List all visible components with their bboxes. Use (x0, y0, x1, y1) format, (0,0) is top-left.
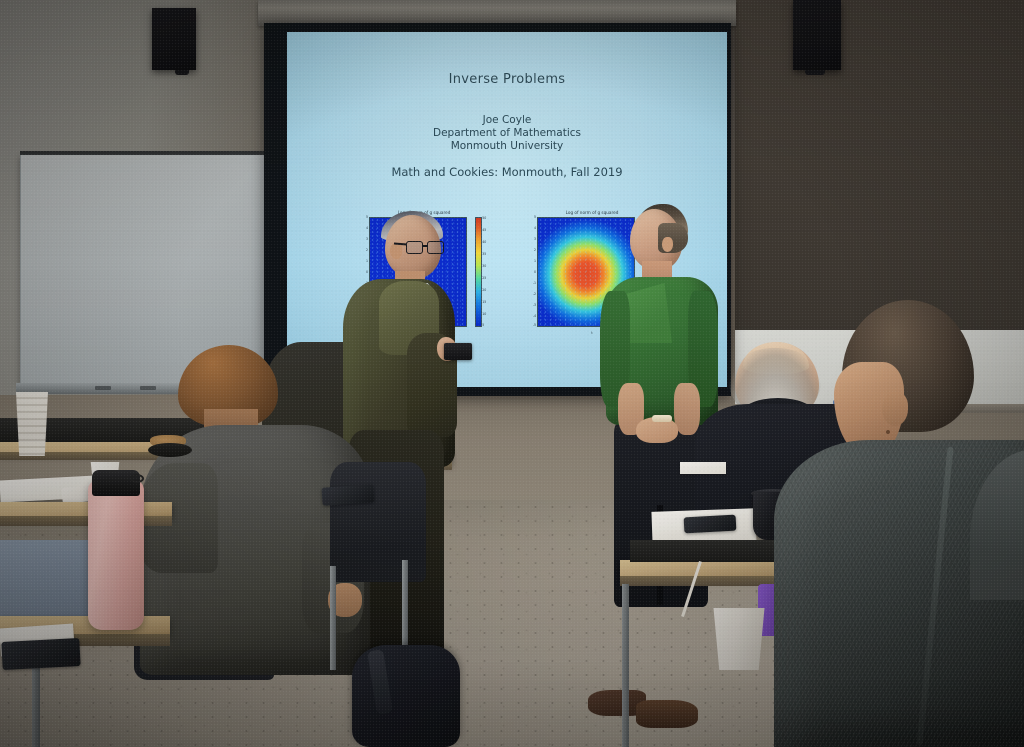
slide-author-institution: Monmouth University (287, 140, 727, 153)
slide-author-dept: Department of Mathematics (287, 127, 727, 140)
colorbar-tick: 5 (482, 324, 484, 327)
presenter-listening-ear (662, 237, 673, 252)
lecture-room-photo: Inverse Problems Joe Coyle Department of… (0, 0, 1024, 747)
chair-leg (330, 566, 336, 670)
phone[interactable] (321, 484, 374, 506)
speaker-icon (152, 8, 196, 70)
desk-edge (0, 516, 172, 526)
colorbar-tick: 35 (482, 253, 486, 256)
colorbar-tick: 15 (482, 301, 486, 304)
ytick: 3 (534, 238, 536, 241)
eyeglasses-lens (406, 241, 423, 254)
eyeglasses-icon (406, 241, 444, 254)
colorbar-tick: 10 (482, 313, 486, 316)
cookie-plate (148, 443, 192, 457)
desk-leg (622, 584, 629, 747)
colorbar-tick: 50 (482, 217, 486, 220)
colorbar-tick: 40 (482, 241, 486, 244)
eyeglasses-bridge (423, 245, 427, 247)
foreground-cup[interactable] (710, 608, 768, 670)
audience-foreground-mole (886, 430, 890, 434)
presenter-listening-shoe (636, 700, 698, 728)
audience-foreground-ear (882, 392, 908, 426)
presenter-speaking-ear (390, 243, 402, 259)
phone[interactable] (684, 515, 737, 534)
student-jeans (0, 540, 96, 628)
colorbar-tick: 30 (482, 265, 486, 268)
ytick: -5 (533, 324, 536, 327)
slide-event-line: Math and Cookies: Monmouth, Fall 2019 (287, 165, 727, 179)
ytick: 5 (534, 216, 536, 219)
slide-author-block: Joe Coyle Department of Mathematics Monm… (287, 114, 727, 153)
eyeglasses-lens (427, 241, 444, 254)
speaker-icon (793, 0, 841, 70)
ytick: 2 (534, 249, 536, 252)
colorbar-tick: 25 (482, 277, 486, 280)
audience-foreground (820, 300, 1024, 747)
ytick: 0 (534, 271, 536, 274)
chair[interactable] (330, 462, 426, 582)
ytick: -1 (533, 282, 536, 285)
ytick: -2 (533, 293, 536, 296)
slide-author-name: Joe Coyle (287, 114, 727, 127)
slide-title: Inverse Problems (287, 72, 727, 87)
speaker-mount (805, 70, 825, 75)
speaker-mount (175, 70, 189, 75)
marker-tray-item (95, 386, 111, 390)
pink-water-bottle[interactable] (88, 480, 144, 630)
bottle-cap-loop-icon (130, 474, 144, 483)
colorbar-tick: 45 (482, 229, 486, 232)
phone[interactable] (1, 638, 80, 670)
ytick: -3 (533, 304, 536, 307)
wristband (652, 415, 672, 422)
presentation-remote[interactable] (444, 343, 472, 360)
colorbar-tick: 20 (482, 289, 486, 292)
figure-left-colorbar: 50 45 40 35 30 25 20 15 10 5 (475, 217, 482, 327)
ytick: 1 (534, 260, 536, 263)
wall-right-upper (735, 0, 1024, 330)
ytick: 4 (534, 227, 536, 230)
handout-paper (680, 462, 726, 474)
ytick: -4 (533, 315, 536, 318)
screen-brand-label (918, 6, 976, 15)
